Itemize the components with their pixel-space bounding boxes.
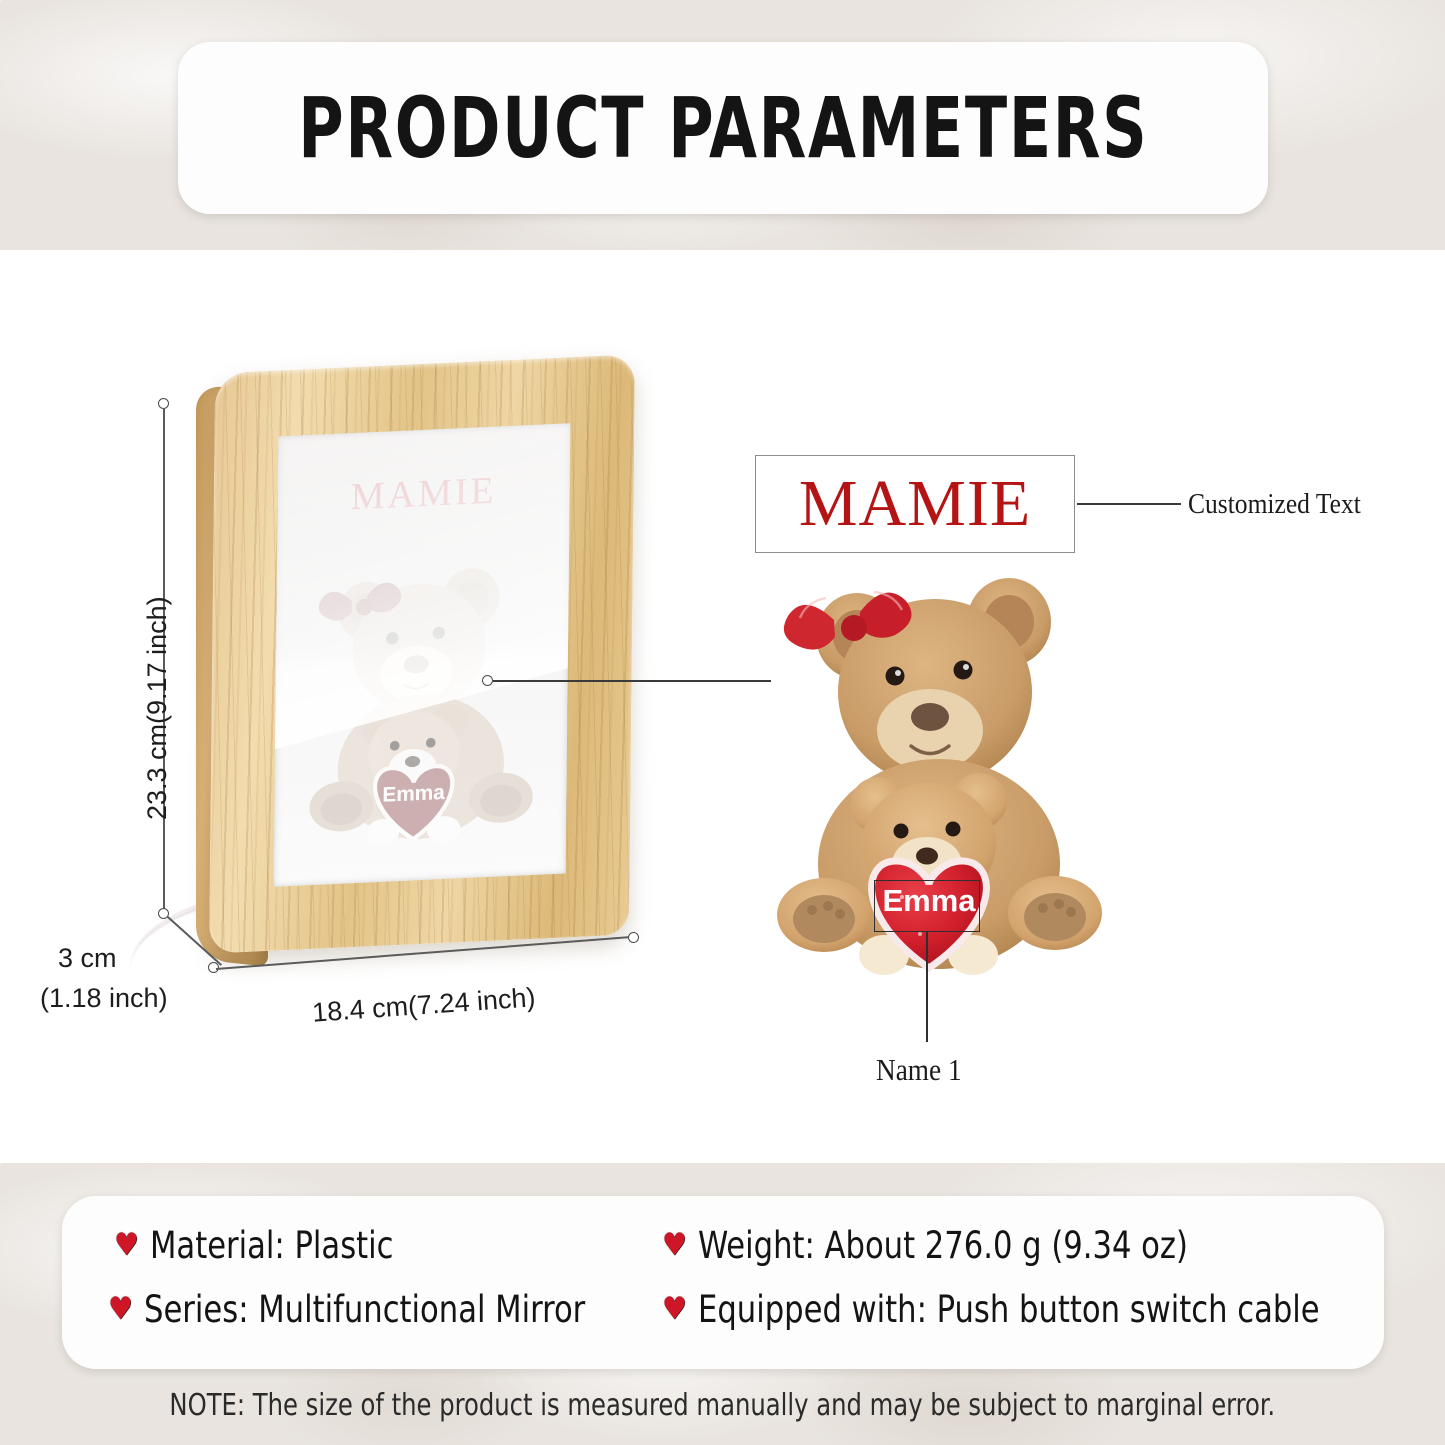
note-text: NOTE: The size of the product is measure… [0,1388,1445,1423]
spec-item-equipped-with: ♥ Equipped with: Push button switch cabl… [662,1288,1374,1331]
dim-depth-label-line1: 3 cm [58,943,117,974]
heart-bullet-icon: ♥ [662,1230,687,1261]
header-card: PRODUCT PARAMETERS [178,42,1268,214]
spec-item-weight: ♥ Weight: About 276.0 g (9.34 oz) [662,1224,1231,1267]
customized-text-value: MAMIE [799,471,1031,537]
dim-height-label: 23.3 cm(9.17 inch) [142,596,173,820]
bear-leader-line [493,680,771,682]
customized-text-leader-line [1077,503,1181,505]
name1-highlight-box [874,880,980,932]
bears-artwork-mirror: Emma [298,534,545,875]
dim-depth-label-line2: (1.18 inch) [40,983,168,1014]
spec-label: Equipped with: Push button switch cable [698,1288,1320,1331]
customized-text-label: Customized Text [1188,488,1361,521]
spec-label: Series: Multifunctional Mirror [144,1288,585,1331]
name1-leader-line [926,932,928,1042]
spec-label: Material: Plastic [150,1224,394,1267]
frame-front-face: MAMIE [209,354,635,953]
product-parameters-infographic: PRODUCT PARAMETERS MAMIE [0,0,1445,1445]
customized-text-box: MAMIE [755,455,1075,553]
note-label: NOTE: The size of the product is measure… [170,1388,1276,1423]
specifications-card: ♥ Material: Plastic ♥ Weight: About 276.… [62,1196,1384,1369]
spec-item-series: ♥ Series: Multifunctional Mirror [108,1288,624,1331]
spec-label: Weight: About 276.0 g (9.34 oz) [698,1224,1188,1267]
mirror-panel: MAMIE [274,423,571,887]
spec-item-material: ♥ Material: Plastic [114,1224,415,1267]
heart-bullet-icon: ♥ [662,1294,687,1325]
product-illustration: MAMIE [150,360,690,1020]
svg-text:Emma: Emma [382,781,445,807]
dim-width-dot-right [628,932,639,943]
heart-bullet-icon: ♥ [114,1230,139,1261]
heart-bullet-icon: ♥ [108,1294,133,1325]
name1-label: Name 1 [876,1052,962,1088]
page-title: PRODUCT PARAMETERS [298,79,1148,177]
mirror-custom-name: MAMIE [277,465,569,522]
bear-leader-dot [482,675,493,686]
